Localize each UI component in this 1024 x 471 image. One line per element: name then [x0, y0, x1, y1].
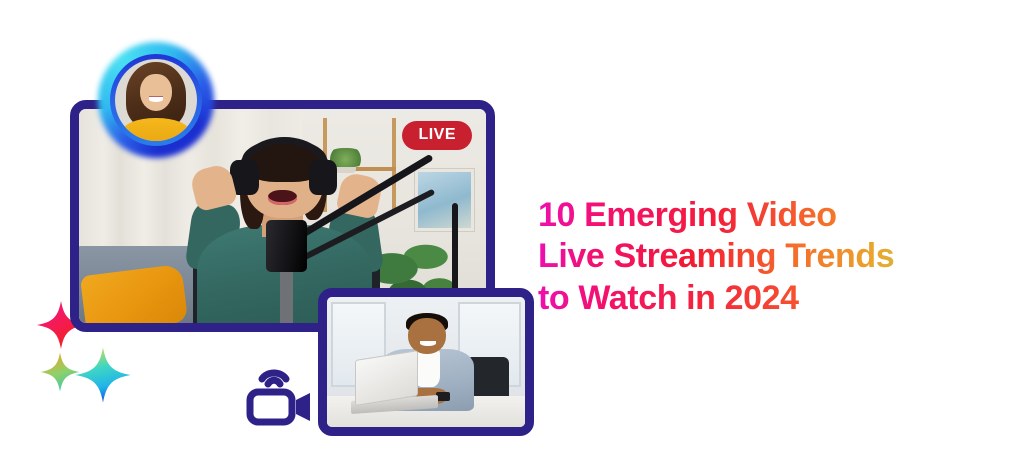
- live-streaming-banner: LIVE: [0, 0, 1024, 471]
- headline-line-2: Live Streaming Trends: [538, 236, 998, 277]
- headline-line-1: 10 Emerging Video: [538, 195, 998, 236]
- sparkle-cyan-icon: [72, 344, 134, 406]
- live-status-badge: LIVE: [402, 121, 472, 150]
- live-video-camera-icon[interactable]: [242, 360, 318, 432]
- secondary-video-card[interactable]: [318, 288, 534, 436]
- avatar-photo: [115, 59, 197, 141]
- avatar[interactable]: [98, 42, 214, 158]
- page-title: 10 Emerging Video Live Streaming Trends …: [538, 195, 998, 319]
- headline-line-3: to Watch in 2024: [538, 278, 998, 319]
- secondary-video-photo: [327, 297, 525, 427]
- avatar-border-ring: [110, 54, 202, 146]
